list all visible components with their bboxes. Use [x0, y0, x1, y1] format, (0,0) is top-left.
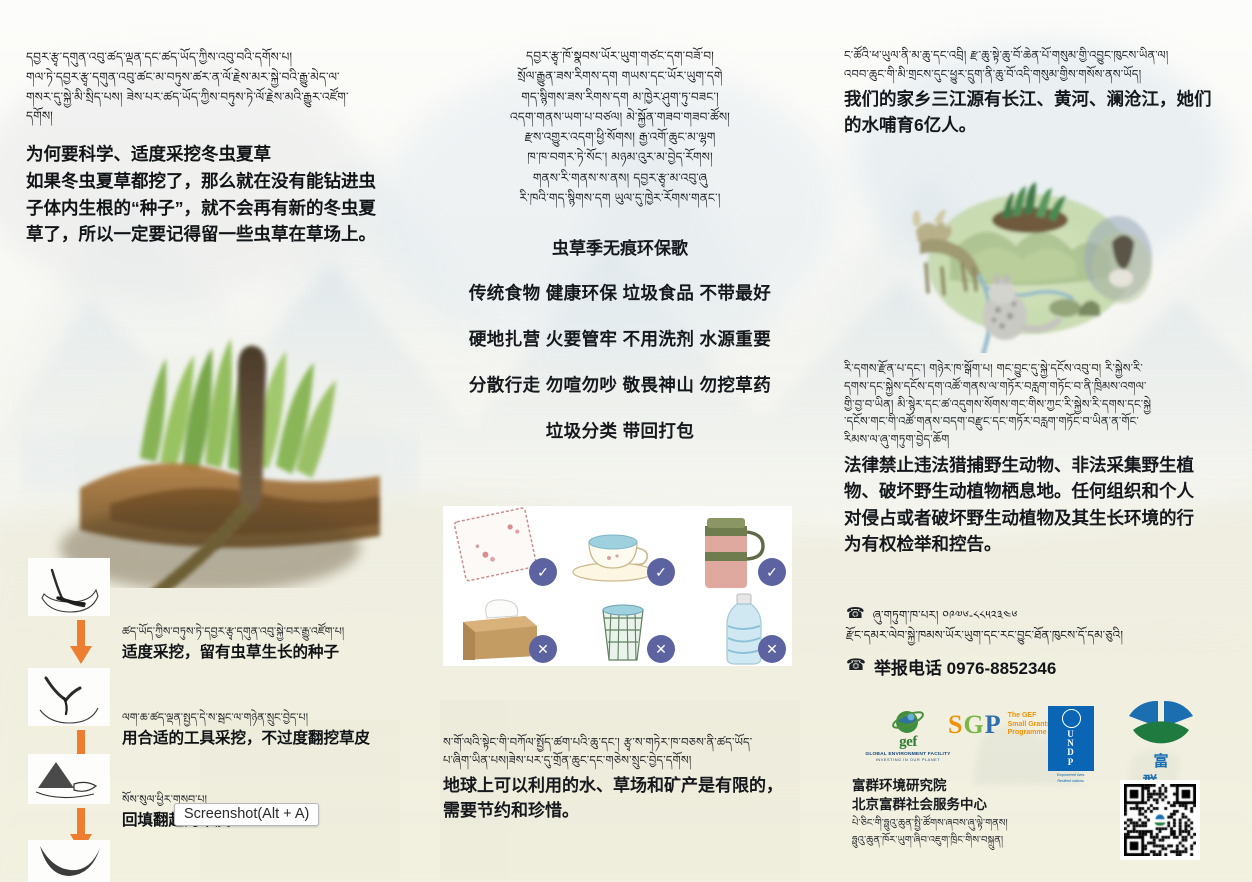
middle-bottom-chinese: 地球上可以利用的水、草场和矿产是有限的， 需要节约和珍惜。	[443, 773, 803, 823]
svg-text:✕: ✕	[655, 641, 667, 657]
right-block1-chinese: 我们的家乡三江源有长江、黄河、澜沧江，她们 的水哺育6亿人。	[844, 86, 1236, 139]
middle-bottom-tibetan: ས་གོ་ལའི་སྟེང་གི་བཀོལ་སྤྱོད་ཚག་པའི་ཆུ་དང…	[443, 734, 803, 770]
step-text-1: ཚད་ཡོད་ཀྱིས་བཏུས་ཏེ་དབྱར་རྩྭ་དགུན་འབུ་སྐ…	[122, 624, 344, 662]
right-block2: རི་དགས་རྫོན་པ་དང་། གཉེར་ཁ་སྒོག་པ། གང་བྱུ…	[844, 360, 1240, 557]
phone-icon-tibetan: ☎	[846, 606, 865, 623]
fuqun-emblem-icon	[1125, 700, 1197, 748]
org-name-tibetan-1: པེ་ཅིང་གི་ཧྥུའུ་ཆུན་སྤྱི་ཚོགས་ཞབས་ཞུ་ལྟེ…	[852, 816, 1092, 831]
song-title: 虫草季无痕环保歌	[440, 234, 800, 259]
left-column: དབྱར་རྩྭ་དགུན་འབུ་ཚད་ལྡན་དང་ཚད་ཡོད་ཀྱིས་…	[26, 48, 426, 248]
sgp-sub-3: Programme	[1008, 729, 1051, 738]
right-block2-chinese: 法律禁止违法猎捕野生动物、非法采集野生植 物、破坏野生动植物栖息地。任何组织和个…	[844, 452, 1240, 557]
down-arrow-1	[69, 620, 93, 664]
hotline-chinese[interactable]: 举报电话 0976-8852346	[874, 654, 1056, 679]
step-1-tibetan: ཚད་ཡོད་ཀྱིས་བཏུས་ཏེ་དབྱར་རྩྭ་དགུན་འབུ་སྐ…	[122, 624, 344, 639]
step-1-chinese: 适度采挖，留有虫草生长的种子	[122, 640, 344, 662]
gef-tagline-2: INVESTING IN OUR PLANET	[860, 757, 956, 762]
song-line-3: 分散行走 勿喧勿吵 敬畏神山 勿挖草药	[440, 372, 800, 397]
sgp-letter-s: S	[948, 712, 962, 738]
sgp-sub-1: The GEF	[1008, 712, 1051, 721]
song-line-4: 垃圾分类 带回打包	[440, 418, 800, 443]
reusable-vs-disposable-photo: ✓ ✓ ✓ ✕ ✕ ✕	[443, 506, 792, 666]
org-name-line2: 北京富群社会服务中心	[852, 795, 1092, 814]
middle-bottom-text: ས་གོ་ལའི་སྟེང་གི་བཀོལ་སྤྱོད་ཚག་པའི་ཆུ་དང…	[443, 734, 803, 823]
gef-wordmark: gef	[860, 734, 956, 751]
step-thumbnail-2	[28, 668, 110, 726]
cordyceps-illustration	[20, 258, 420, 588]
sgp-logo: S G P The GEF Small Grants Programme	[948, 712, 1051, 738]
gef-logo: gef GLOBAL ENVIRONMENT FACILITY INVESTIN…	[860, 706, 956, 762]
svg-text:✓: ✓	[766, 564, 778, 580]
poster-canvas: དབྱར་རྩྭ་དགུན་འབུ་ཚད་ལྡན་དང་ཚད་ཡོད་ཀྱིས་…	[0, 0, 1252, 882]
phone-icon-chinese: ☎	[846, 657, 866, 675]
song-line-2: 硬地扎营 火要管牢 不用洗剂 水源重要	[440, 326, 800, 351]
sgp-letter-p: P	[985, 712, 1001, 738]
hotline-tibetan-line2: རྫོང་དམར་ལེབ་སྐྱེ་ཁམས་ཡོར་ཡུག་དང་རང་བྱུང…	[846, 626, 1242, 645]
step-2-chinese: 用合适的工具采挖，不过度翻挖草皮	[122, 726, 370, 748]
left-tibetan-paragraph: དབྱར་རྩྭ་དགུན་འབུ་ཚད་ལྡན་དང་ཚད་ཡོད་ཀྱིས་…	[26, 48, 426, 127]
left-body-text: 如果冬虫夏草都挖了，那么就在没有能钻进虫 子体内生根的“种子”，就不会再有新的冬…	[26, 168, 426, 248]
undp-blue-block: U N D P	[1048, 706, 1094, 771]
fuqun-brand-logo: 富群	[1118, 700, 1204, 792]
undp-letter-p: P	[1052, 758, 1090, 767]
wechat-qr-code[interactable]	[1120, 780, 1200, 860]
gef-globe-icon	[891, 706, 925, 736]
screenshot-tooltip: Screenshot(Alt + A)	[174, 803, 319, 826]
sponsor-logo-row: gef GLOBAL ENVIRONMENT FACILITY INVESTIN…	[852, 706, 1102, 768]
three-river-source-illustration	[890, 168, 1165, 353]
step-2-tibetan: ལག་ཆ་ཚད་ལྡན་སྤྱད་དེ་ས་སྦང་ལ་གཉེན་སྲུང་བྱ…	[122, 710, 370, 725]
step-thumbnail-3	[28, 754, 110, 804]
sgp-letter-g: G	[963, 712, 983, 738]
right-block1-tibetan: ང་ཚོའི་ཕ་ཡུལ་ནི་མ་ཆུ་དང་འབྲི། རྫ་ཆུ་སྟེ་…	[844, 46, 1236, 83]
right-block2-tibetan: རི་དགས་རྫོན་པ་དང་། གཉེར་ཁ་སྒོག་པ། གང་བྱུ…	[844, 360, 1240, 449]
svg-text:✓: ✓	[655, 564, 667, 580]
step-thumbnail-1	[28, 558, 110, 616]
svg-text:✕: ✕	[537, 641, 549, 657]
svg-text:✕: ✕	[766, 641, 778, 657]
organization-block: 富群环境研究院 北京富群社会服务中心 པེ་ཅིང་གི་ཧྥུའུ་ཆུན་ས…	[852, 776, 1092, 848]
step-text-2: ལག་ཆ་ཚད་ལྡན་སྤྱད་དེ་ས་སྦང་ལ་གཉེན་སྲུང་བྱ…	[122, 710, 370, 748]
harvest-steps-sequence: ཚད་ཡོད་ཀྱིས་བཏུས་ཏེ་དབྱར་རྩྭ་དགུན་འབུ་སྐ…	[18, 558, 438, 878]
un-emblem-icon	[1062, 709, 1081, 728]
hotline-tibetan-line1: ཞུ་གཏུག་ཁ་པར། ༠༩༧༦-༨༨༥༢༣༤༦	[873, 606, 1018, 625]
middle-column: དབྱར་རྩྭ་ཁོ་སྣབས་ཡོར་ཡུག་གཙང་དག་བཟོ་བ། ས…	[440, 46, 800, 443]
svg-text:✓: ✓	[537, 564, 549, 580]
step-thumbnail-4	[28, 840, 110, 882]
right-column: ང་ཚོའི་ཕ་ཡུལ་ནི་མ་ཆུ་དང་འབྲི། རྫ་ཆུ་སྟེ་…	[844, 46, 1236, 139]
left-heading: 为何要科学、适度采挖冬虫夏草	[26, 141, 426, 166]
undp-logo: U N D P Empowered lives. Resilient natio…	[1048, 706, 1094, 784]
middle-tibetan-song: དབྱར་རྩྭ་ཁོ་སྣབས་ཡོར་ཡུག་གཙང་དག་བཟོ་བ། ས…	[440, 46, 800, 208]
song-line-1: 传统食物 健康环保 垃圾食品 不带最好	[440, 280, 800, 305]
org-name-line1: 富群环境研究院	[852, 776, 1092, 795]
org-name-tibetan-2: ཧྥུའུ་ཆུན་ཁོར་ཡུག་ཞིབ་འཇུག་ཁྲིང་གིས་བསྐྲ…	[852, 833, 1092, 848]
report-hotline-block: ☎ ཞུ་གཏུག་ཁ་པར། ༠༩༧༦-༨༨༥༢༣༤༦ རྫོང་དམར་ལེ…	[846, 606, 1242, 679]
sgp-sub-2: Small Grants	[1008, 721, 1051, 730]
qr-canvas	[1124, 784, 1196, 856]
